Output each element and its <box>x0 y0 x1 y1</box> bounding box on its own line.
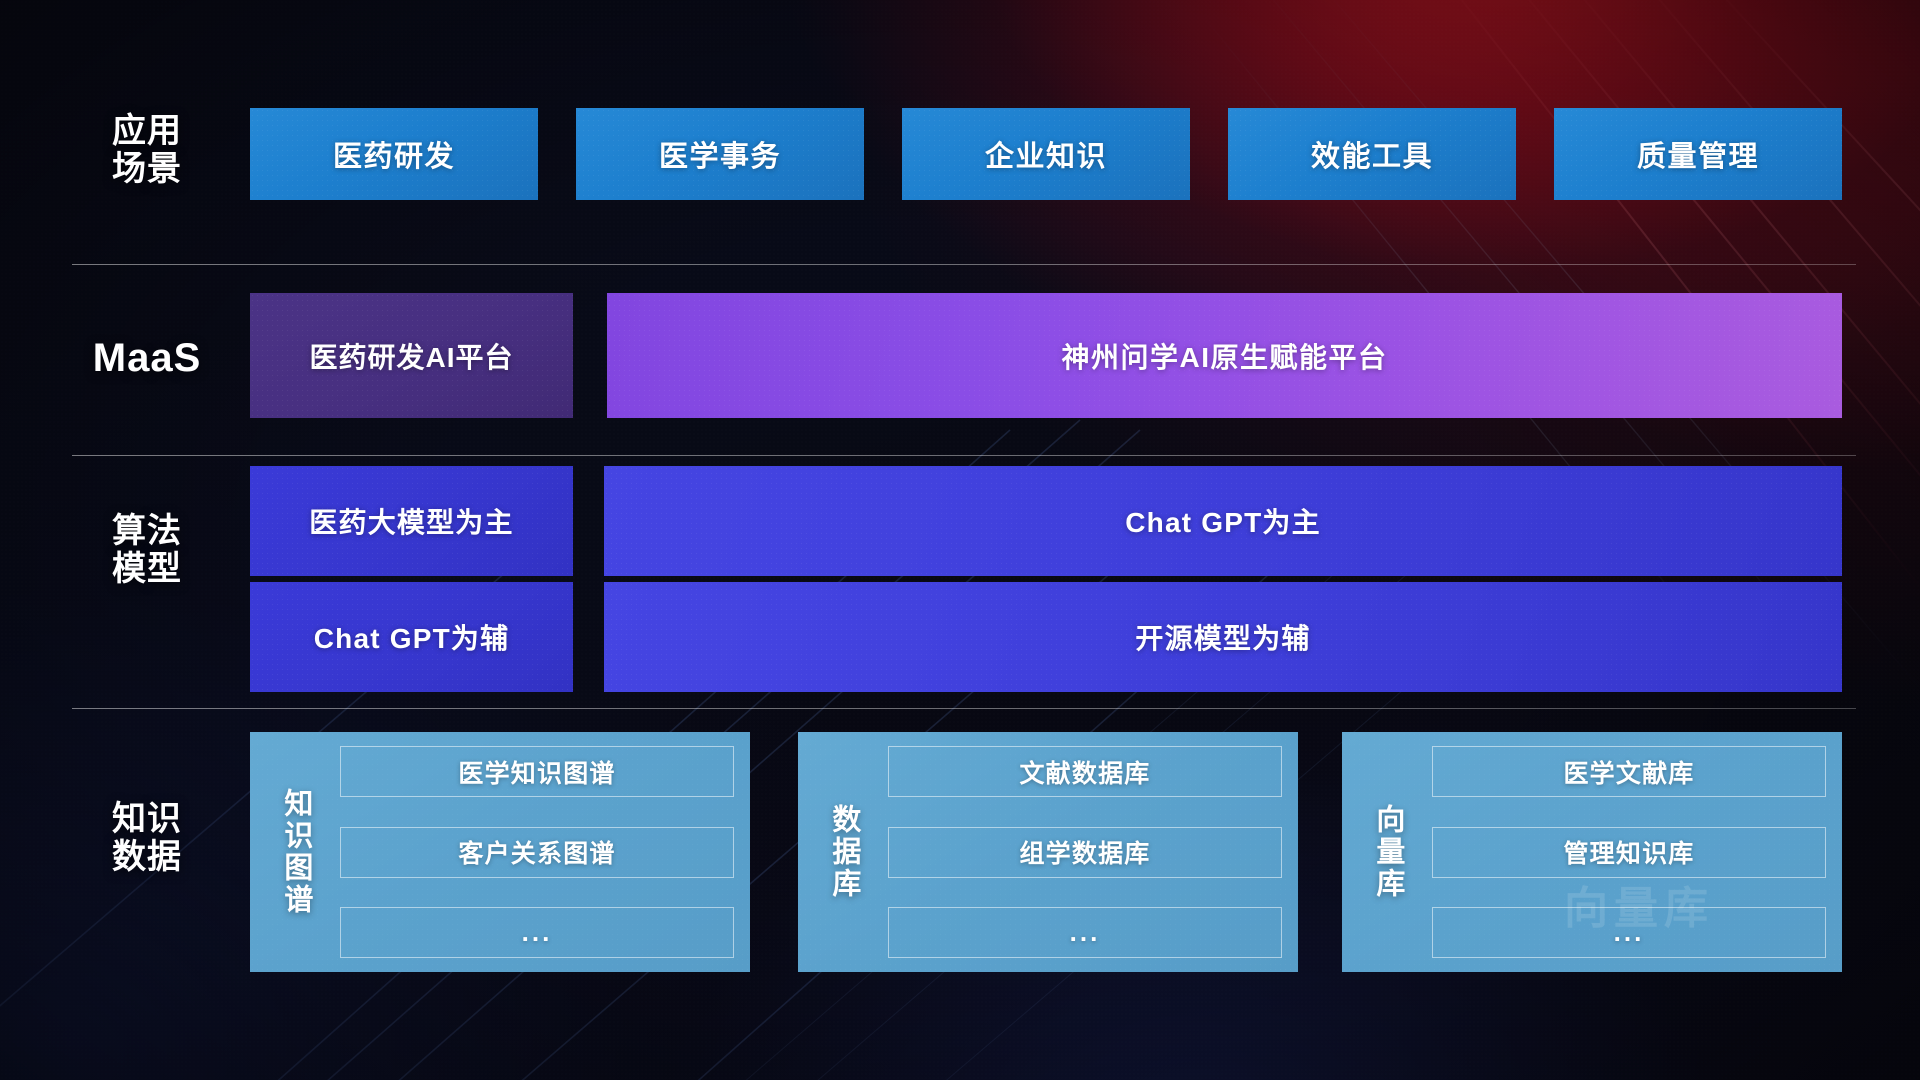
knowledge-item-1-0[interactable]: 文献数据库 <box>888 746 1282 797</box>
algo-box-r0-right-label: Chat GPT为主 <box>1125 501 1321 541</box>
algo-box-r0-left-label: 医药大模型为主 <box>309 501 513 541</box>
knowledge-panel-0-items: 医学知识图谱 客户关系图谱 ... <box>340 746 734 958</box>
knowledge-panel-2[interactable]: 向量库 向量库 医学文献库 管理知识库 ... <box>1342 732 1842 972</box>
maas-right-box[interactable]: 神州问学AI原生赋能平台 <box>607 293 1842 418</box>
knowledge-panel-1-title: 数据库 <box>812 746 874 958</box>
app-box-0-label: 医药研发 <box>333 133 455 175</box>
algo-box-r1-right-label: 开源模型为辅 <box>1135 617 1310 657</box>
algo-box-r0-right[interactable]: Chat GPT为主 <box>604 466 1842 576</box>
app-box-2[interactable]: 企业知识 <box>902 108 1190 200</box>
knowledge-panel-1-items: 文献数据库 组学数据库 ... <box>888 746 1282 958</box>
app-box-3[interactable]: 效能工具 <box>1228 108 1516 200</box>
knowledge-item-2-0[interactable]: 医学文献库 <box>1432 746 1826 797</box>
algo-box-r1-right[interactable]: 开源模型为辅 <box>604 582 1842 692</box>
app-box-1[interactable]: 医学事务 <box>576 108 864 200</box>
knowledge-item-2-1[interactable]: 管理知识库 <box>1432 827 1826 878</box>
knowledge-item-0-0[interactable]: 医学知识图谱 <box>340 746 734 797</box>
divider-1 <box>72 264 1856 265</box>
app-box-3-label: 效能工具 <box>1311 133 1433 175</box>
row-label-application: 应用 场景 <box>72 112 222 188</box>
knowledge-item-0-1[interactable]: 客户关系图谱 <box>340 827 734 878</box>
app-box-0[interactable]: 医药研发 <box>250 108 538 200</box>
architecture-diagram: 应用 场景 医药研发 医学事务 企业知识 效能工具 质量管理 MaaS 医药研发… <box>0 0 1920 1080</box>
row-label-maas: MaaS <box>72 336 222 381</box>
app-box-4-label: 质量管理 <box>1637 133 1759 175</box>
knowledge-item-0-2[interactable]: ... <box>340 907 734 958</box>
knowledge-item-2-2[interactable]: ... <box>1432 907 1826 958</box>
algo-box-r1-left[interactable]: Chat GPT为辅 <box>250 582 573 692</box>
algo-box-r0-left[interactable]: 医药大模型为主 <box>250 466 573 576</box>
app-box-4[interactable]: 质量管理 <box>1554 108 1842 200</box>
algo-box-r1-left-label: Chat GPT为辅 <box>314 617 510 657</box>
knowledge-item-1-1[interactable]: 组学数据库 <box>888 827 1282 878</box>
app-box-2-label: 企业知识 <box>985 133 1107 175</box>
knowledge-item-1-2[interactable]: ... <box>888 907 1282 958</box>
maas-right-label: 神州问学AI原生赋能平台 <box>1061 336 1387 376</box>
maas-left-label: 医药研发AI平台 <box>309 336 513 376</box>
app-box-1-label: 医学事务 <box>659 133 781 175</box>
maas-left-box[interactable]: 医药研发AI平台 <box>250 293 573 418</box>
divider-3 <box>72 708 1856 709</box>
knowledge-panel-2-items: 医学文献库 管理知识库 ... <box>1432 746 1826 958</box>
row-label-algorithm: 算法 模型 <box>72 512 222 588</box>
row-label-knowledge: 知识 数据 <box>72 800 222 876</box>
knowledge-panel-0[interactable]: 知识图谱 医学知识图谱 客户关系图谱 ... <box>250 732 750 972</box>
divider-2 <box>72 455 1856 456</box>
knowledge-panel-2-title: 向量库 <box>1356 746 1418 958</box>
knowledge-panel-0-title: 知识图谱 <box>264 746 326 958</box>
knowledge-panel-1[interactable]: 数据库 文献数据库 组学数据库 ... <box>798 732 1298 972</box>
